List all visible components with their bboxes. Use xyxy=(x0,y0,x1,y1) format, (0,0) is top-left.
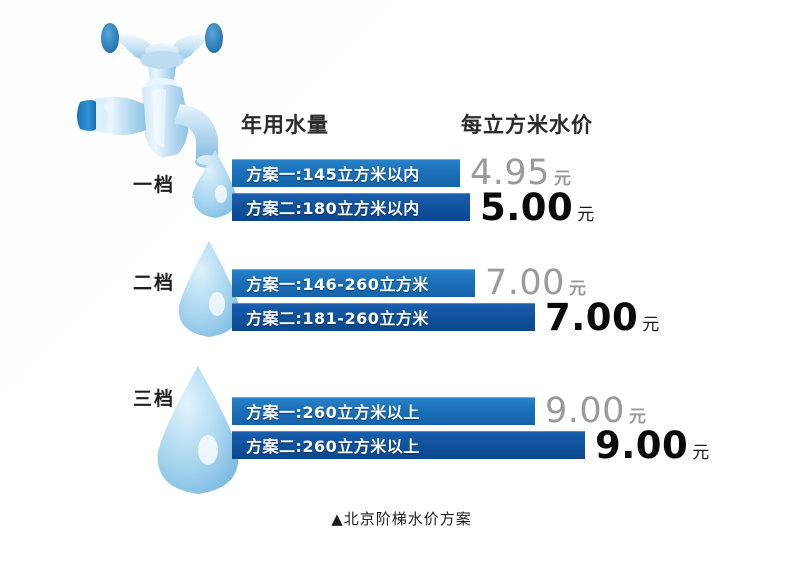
price-unit: 元 xyxy=(554,171,571,188)
price-plan-two: 5.00 元 xyxy=(480,189,594,226)
tier-label-2: 二档 xyxy=(133,268,175,295)
usage-bar-plan-one: 方案一:146-260立方米 xyxy=(232,269,475,297)
tier-1-row-plan-two: 方案二:180立方米以内 5.00 元 xyxy=(232,192,594,222)
price-value: 5.00 xyxy=(480,189,573,226)
usage-bar-plan-two: 方案二:181-260立方米 xyxy=(232,303,535,331)
price-unit: 元 xyxy=(569,281,586,298)
usage-bar-plan-two: 方案二:180立方米以内 xyxy=(232,193,470,221)
usage-bar-label: 方案一:260立方米以上 xyxy=(246,399,420,423)
usage-bar-label: 方案一:145立方米以内 xyxy=(246,161,420,185)
usage-bar-label: 方案二:181-260立方米 xyxy=(246,305,429,329)
figure-caption: ▲北京阶梯水价方案 xyxy=(0,508,803,529)
usage-bar-label: 方案二:260立方米以上 xyxy=(246,433,420,457)
tier-2-row-plan-one: 方案一:146-260立方米 7.00 元 xyxy=(232,268,586,298)
price-value: 9.00 xyxy=(595,427,688,464)
price-plan-two: 7.00 元 xyxy=(545,299,659,336)
tier-2-row-plan-two: 方案二:181-260立方米 7.00 元 xyxy=(232,302,659,332)
price-unit: 元 xyxy=(577,207,594,224)
usage-bar-label: 方案一:146-260立方米 xyxy=(246,271,429,295)
column-header-price: 每立方米水价 xyxy=(461,109,593,139)
usage-bar-plan-one: 方案一:260立方米以上 xyxy=(232,397,535,425)
usage-bar-plan-two: 方案二:260立方米以上 xyxy=(232,431,585,459)
price-unit: 元 xyxy=(692,445,709,462)
price-unit: 元 xyxy=(642,317,659,334)
usage-bar-label: 方案二:180立方米以内 xyxy=(246,195,420,219)
price-unit: 元 xyxy=(629,409,646,426)
tier-3-row-plan-one: 方案一:260立方米以上 9.00 元 xyxy=(232,396,646,426)
price-value: 7.00 xyxy=(545,299,638,336)
usage-bar-plan-one: 方案一:145立方米以内 xyxy=(232,159,460,187)
water-price-infographic: 年用水量 每立方米水价 一档 方案一:145立方米以内 xyxy=(0,0,803,572)
tier-label-1: 一档 xyxy=(133,170,175,197)
tier-1-row-plan-one: 方案一:145立方米以内 4.95 元 xyxy=(232,158,571,188)
price-plan-two: 9.00 元 xyxy=(595,427,709,464)
column-header-usage: 年用水量 xyxy=(241,109,329,139)
tier-3-row-plan-two: 方案二:260立方米以上 9.00 元 xyxy=(232,430,709,460)
